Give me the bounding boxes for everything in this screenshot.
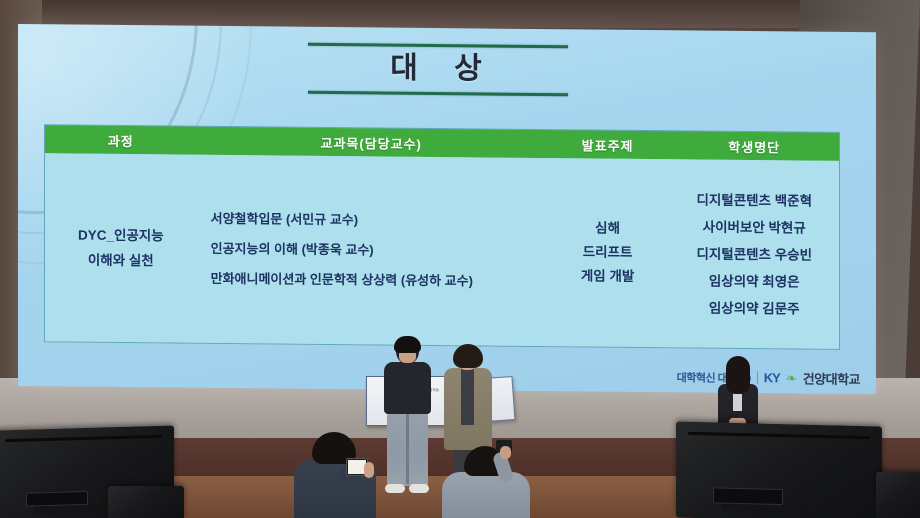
photographer-left-hand [364,462,374,478]
table-row: DYC_인공지능 이해와 실천 서양철학입문 (서민규 교수) 인공지능의 이해… [45,153,839,349]
recipient-torso [384,362,431,414]
page-title: 대 상 [308,46,568,93]
speaker-port-strip [34,504,113,514]
stage-monitor-speaker-left-secondary [108,486,184,518]
university-logo: 대학혁신 대학3.0 KY ❧ 건양대학교 [677,367,860,388]
stage-monitor-speaker-right-secondary [876,472,920,518]
stage-monitor-speaker-right [676,421,882,518]
cell-topic: 심해 드리프트 게임 개발 [546,158,670,347]
student-line-3: 디지털콘텐츠 우승빈 [696,240,812,268]
recipient-leg-split [406,414,409,484]
audience-photographer-right [438,446,534,518]
ky-monogram-icon: KY [764,370,780,385]
student-line-5: 임상의약 김문주 [709,294,800,322]
recipient-shoe-left [385,484,405,493]
student-line-2: 사이버보안 박현규 [703,213,806,241]
column-header-course: 과정 [45,130,197,150]
recipient-shoe-right [409,484,429,493]
award-table: 과정 교과목(담당교수) 발표주제 학생명단 DYC_인공지능 이해와 실천 서… [44,124,840,350]
leaf-icon: ❧ [786,370,797,386]
column-header-topic: 발표주제 [546,135,670,155]
university-name-label: 건양대학교 [803,369,860,389]
cell-course-track: DYC_인공지능 이해와 실천 [45,153,197,342]
topic-line-1: 심해 [595,217,620,241]
projection-screen: 대 상 과정 교과목(담당교수) 발표주제 학생명단 DYC_인공지능 이해와 … [18,24,876,394]
topic-line-2: 드리프트 [583,240,633,264]
audience-photographer-left [286,432,382,518]
speaker-port-strip-right [721,503,812,513]
student-line-1: 디지털콘텐츠 백준혁 [696,186,812,214]
course-track-line-1: DYC_인공지능 [78,223,164,249]
recipient-hair [394,336,421,353]
presenter-hair [453,344,483,368]
speaker-grille [5,435,163,442]
speaker-grille-right [688,431,869,438]
ceiling-wall [0,0,920,28]
course-track-line-2: 이해와 실천 [88,248,154,274]
topic-line-3: 게임 개발 [581,264,634,289]
subject-line-2: 인공지능의 이해 (박종욱 교수) [211,234,374,266]
subject-line-3: 만화애니메이션과 인문학적 상상력 (유성하 교수) [211,264,473,297]
auditorium-scene: 대 상 과정 교과목(담당교수) 발표주제 학생명단 DYC_인공지능 이해와 … [0,0,920,518]
slide-title-block: 대 상 [308,43,568,96]
column-header-subject: 교과목(담당교수) [197,131,546,153]
host-hair [726,356,750,394]
award-recipient-student [378,338,436,498]
cell-students: 디지털콘텐츠 백준혁 사이버보안 박현규 디지털콘텐츠 우승빈 임상의약 최영은… [669,159,839,349]
student-line-4: 임상의약 최영은 [709,267,800,295]
presenter-inner-top [461,369,474,425]
column-header-students: 학생명단 [669,136,839,157]
photographer-right-body [442,472,530,518]
photographer-right-hand [500,446,511,459]
subject-line-1: 서양철학입문 (서민규 교수) [211,204,358,235]
cell-subjects: 서양철학입문 (서민규 교수) 인공지능의 이해 (박종욱 교수) 만화애니메이… [197,155,546,346]
speaker-ports-right [713,488,783,505]
